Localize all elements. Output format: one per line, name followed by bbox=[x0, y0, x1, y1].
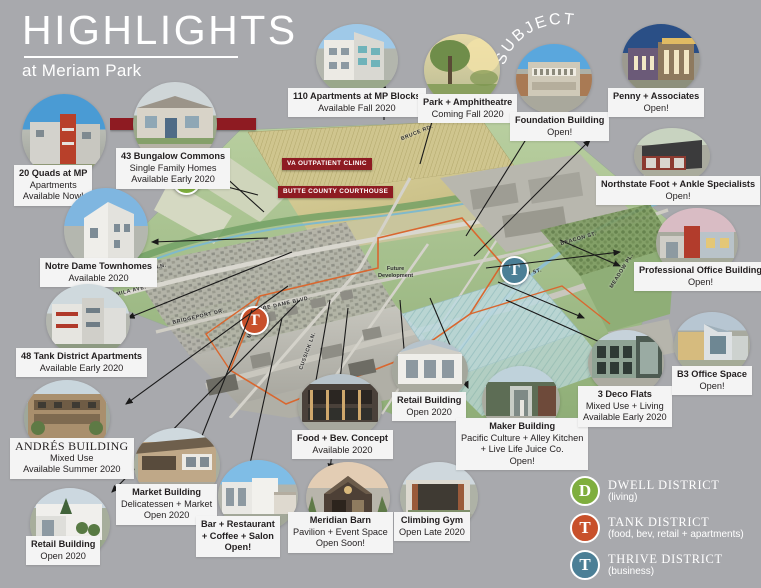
caption-northstate: Northstate Foot + Ankle Specialists Open… bbox=[596, 176, 760, 205]
caption-line: Food + Bev. Concept bbox=[297, 433, 388, 445]
legend-letter: T bbox=[579, 518, 590, 538]
caption-line: Available Early 2020 bbox=[583, 412, 667, 424]
title-underline bbox=[24, 56, 238, 58]
caption-line: Meridian Barn bbox=[293, 515, 388, 527]
caption-line: Single Family Homes bbox=[121, 163, 225, 175]
legend-title: DWELL DISTRICT bbox=[608, 479, 720, 492]
legend-title: THRIVE DISTRICT bbox=[608, 553, 723, 566]
caption-line: Park + Amphitheatre bbox=[423, 97, 512, 109]
caption-line: Available Early 2020 bbox=[121, 174, 225, 186]
caption-line: + Live Life Juice Co. bbox=[461, 444, 583, 456]
thumb-foundation-building[interactable] bbox=[516, 44, 592, 114]
caption-line: Pacific Culture + Alley Kitchen bbox=[461, 433, 583, 445]
caption-line: 20 Quads at MP bbox=[19, 168, 87, 180]
caption-deco-flats: 3 Deco Flats Mixed Use + Living Availabl… bbox=[578, 386, 672, 427]
legend-item-dwell[interactable]: D DWELL DISTRICT (living) bbox=[570, 476, 744, 506]
legend-sub: (business) bbox=[608, 566, 723, 578]
caption-line: Available 2020 bbox=[297, 445, 388, 457]
caption-line: Open! bbox=[639, 277, 761, 289]
caption-line: + Coffee + Salon bbox=[201, 531, 275, 543]
caption-line: Open Late 2020 bbox=[399, 527, 465, 539]
tank-district-icon: T bbox=[570, 513, 600, 543]
caption-line: Climbing Gym bbox=[399, 515, 465, 527]
map-district-marker-tank[interactable]: T bbox=[240, 306, 269, 335]
caption-line: Open 2020 bbox=[397, 407, 461, 419]
map-banner-va-clinic[interactable]: VA OUTPATIENT CLINIC bbox=[282, 158, 372, 170]
caption-notre-dame: Notre Dame Townhomes Available 2020 bbox=[40, 258, 157, 287]
caption-meridian-barn: Meridian Barn Pavilion + Event Space Ope… bbox=[288, 512, 393, 553]
caption-climbing-gym: Climbing Gym Open Late 2020 bbox=[394, 512, 470, 541]
legend-letter: D bbox=[579, 481, 591, 501]
thumb-penny-associates[interactable] bbox=[622, 24, 700, 96]
caption-line: Northstate Foot + Ankle Specialists bbox=[601, 179, 755, 191]
caption-line: B3 Office Space bbox=[677, 369, 747, 381]
caption-line: Mixed Use + Living bbox=[583, 401, 667, 413]
caption-professional-office: Professional Office Building Open! bbox=[634, 262, 761, 291]
caption-foundation-building: Foundation Building Open! bbox=[510, 112, 609, 141]
caption-retail-center: Retail Building Open 2020 bbox=[392, 392, 466, 421]
page-title: HIGHLIGHTS bbox=[22, 6, 298, 54]
caption-tank-apartments: 48 Tank District Apartments Available Ea… bbox=[16, 348, 147, 377]
marker-letter: T bbox=[509, 262, 520, 280]
caption-park-amphitheatre: Park + Amphitheatre Coming Fall 2020 bbox=[418, 94, 517, 123]
caption-line: Open! bbox=[677, 381, 747, 393]
caption-line: Maker Building bbox=[461, 421, 583, 433]
district-legend: D DWELL DISTRICT (living) T TANK DISTRIC… bbox=[570, 476, 744, 587]
thrive-district-icon: T bbox=[570, 550, 600, 580]
thumb-art bbox=[46, 284, 130, 358]
caption-line: Open! bbox=[601, 191, 755, 203]
marker-letter: T bbox=[249, 312, 260, 330]
caption-line: Available Early 2020 bbox=[21, 363, 142, 375]
caption-line: Available Summer 2020 bbox=[15, 464, 129, 476]
caption-maker-building: Maker Building Pacific Culture + Alley K… bbox=[456, 418, 588, 470]
caption-line: Available Fall 2020 bbox=[293, 103, 421, 115]
caption-line: Available 2020 bbox=[45, 273, 152, 285]
caption-line: Retail Building bbox=[397, 395, 461, 407]
caption-line: Open 2020 bbox=[31, 551, 95, 563]
map-future-development-label: Future Development bbox=[378, 266, 413, 280]
caption-line: Open! bbox=[461, 456, 583, 468]
legend-sub: (food, bev, retail + apartments) bbox=[608, 529, 744, 541]
caption-line: Market Building bbox=[121, 487, 212, 499]
caption-food-bev: Food + Bev. Concept Available 2020 bbox=[292, 430, 393, 459]
caption-line: Retail Building bbox=[31, 539, 95, 551]
caption-line: Open! bbox=[201, 542, 275, 554]
legend-item-tank[interactable]: T TANK DISTRICT (food, bev, retail + apa… bbox=[570, 513, 744, 543]
caption-line: Foundation Building bbox=[515, 115, 604, 127]
future-dev-line2: Development bbox=[378, 273, 413, 279]
caption-line: Mixed Use bbox=[15, 453, 129, 465]
caption-bar-restaurant: Bar + Restaurant + Coffee + Salon Open! bbox=[196, 516, 280, 557]
caption-line: Open! bbox=[613, 103, 699, 115]
caption-line: ANDRÉS BUILDING bbox=[15, 441, 129, 453]
thumb-apartments-110[interactable] bbox=[316, 24, 398, 96]
caption-line: Bar + Restaurant bbox=[201, 519, 275, 531]
legend-item-thrive[interactable]: T THRIVE DISTRICT (business) bbox=[570, 550, 744, 580]
map-banner-title: VA OUTPATIENT CLINIC bbox=[287, 160, 367, 167]
map-banner-title: BUTTE COUNTY COURTHOUSE bbox=[283, 188, 388, 195]
page-title-block: HIGHLIGHTS at Meriam Park bbox=[22, 6, 298, 81]
legend-letter: T bbox=[579, 555, 590, 575]
thumb-tank-apartments[interactable] bbox=[46, 284, 130, 358]
caption-line: 3 Deco Flats bbox=[583, 389, 667, 401]
thumb-art bbox=[516, 44, 592, 114]
caption-line: Delicatessen + Market bbox=[121, 499, 212, 511]
thumb-art bbox=[622, 24, 700, 96]
caption-line: 110 Apartments at MP Blocks bbox=[293, 91, 421, 103]
highlights-poster: HIGHLIGHTS at Meriam Park bbox=[0, 0, 761, 588]
legend-title: TANK DISTRICT bbox=[608, 516, 744, 529]
caption-line: Open Soon! bbox=[293, 538, 388, 550]
caption-line: Notre Dame Townhomes bbox=[45, 261, 152, 273]
dwell-district-icon: D bbox=[570, 476, 600, 506]
caption-penny-associates: Penny + Associates Open! bbox=[608, 88, 704, 117]
caption-line: Apartments bbox=[19, 180, 87, 192]
caption-retail-left: Retail Building Open 2020 bbox=[26, 536, 100, 565]
caption-line: Professional Office Building bbox=[639, 265, 761, 277]
caption-andres-building: ANDRÉS BUILDING Mixed Use Available Summ… bbox=[10, 438, 134, 479]
thumb-art bbox=[316, 24, 398, 96]
caption-line: Pavilion + Event Space bbox=[293, 527, 388, 539]
caption-line: Penny + Associates bbox=[613, 91, 699, 103]
caption-line: 48 Tank District Apartments bbox=[21, 351, 142, 363]
page-subtitle: at Meriam Park bbox=[22, 61, 298, 81]
caption-line: Open! bbox=[515, 127, 604, 139]
future-dev-line1: Future bbox=[387, 266, 404, 272]
map-banner-courthouse[interactable]: BUTTE COUNTY COURTHOUSE bbox=[278, 186, 393, 198]
caption-bungalow-commons: 43 Bungalow Commons Single Family Homes … bbox=[116, 148, 230, 189]
legend-sub: (living) bbox=[608, 492, 720, 504]
caption-line: Coming Fall 2020 bbox=[423, 109, 512, 121]
caption-line: 43 Bungalow Commons bbox=[121, 151, 225, 163]
caption-b3-office: B3 Office Space Open! bbox=[672, 366, 752, 395]
map-district-marker-thrive[interactable]: T bbox=[500, 256, 529, 285]
caption-apartments-110: 110 Apartments at MP Blocks Available Fa… bbox=[288, 88, 426, 117]
